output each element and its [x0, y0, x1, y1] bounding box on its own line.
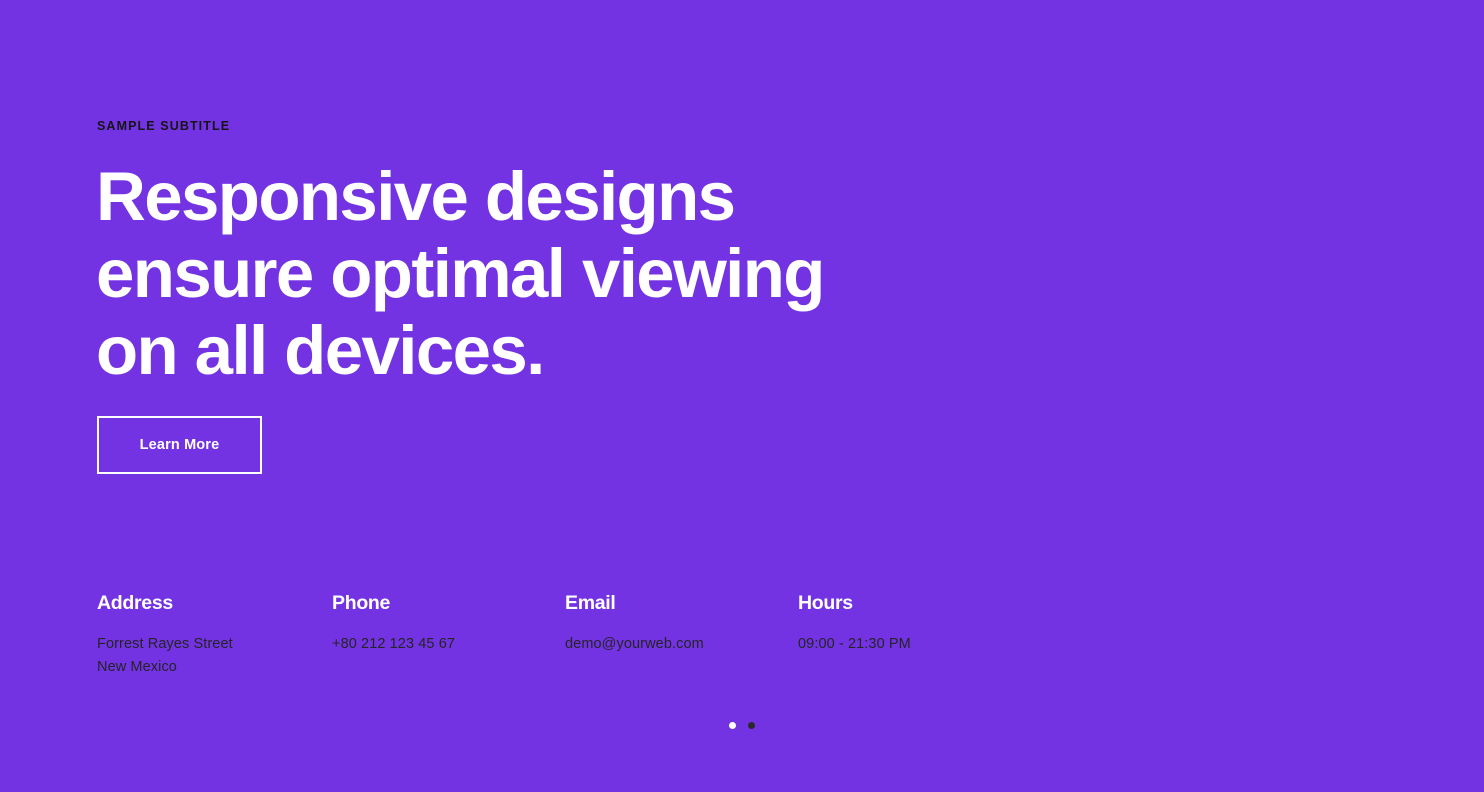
carousel-dots [0, 722, 1484, 729]
learn-more-button[interactable]: Learn More [97, 416, 262, 474]
contact-line: Forrest Rayes Street [97, 633, 327, 656]
contact-lines-email: demo@yourweb.com [565, 633, 795, 656]
contact-lines-hours: 09:00 - 21:30 PM [798, 633, 1028, 656]
contact-column-email: Email demo@yourweb.com [565, 591, 795, 656]
contact-title-email: Email [565, 591, 795, 615]
contact-line-phone-number[interactable]: +80 212 123 45 67 [332, 633, 562, 656]
contact-info-row: Address Forrest Rayes Street New Mexico … [97, 591, 1197, 681]
contact-lines-address: Forrest Rayes Street New Mexico [97, 633, 327, 679]
contact-column-address: Address Forrest Rayes Street New Mexico [97, 591, 327, 679]
contact-column-phone: Phone +80 212 123 45 67 [332, 591, 562, 656]
contact-lines-phone: +80 212 123 45 67 [332, 633, 562, 656]
hero-eyebrow: SAMPLE SUBTITLE [97, 118, 230, 134]
hero-slide: SAMPLE SUBTITLE Responsive designs ensur… [0, 0, 1484, 792]
headline-line-2: ensure optimal viewing [96, 235, 996, 312]
hero-headline: Responsive designs ensure optimal viewin… [96, 158, 996, 389]
contact-line: New Mexico [97, 656, 327, 679]
contact-line-email-address[interactable]: demo@yourweb.com [565, 633, 795, 656]
contact-line: 09:00 - 21:30 PM [798, 633, 1028, 656]
contact-column-hours: Hours 09:00 - 21:30 PM [798, 591, 1028, 656]
carousel-dot-1[interactable] [729, 722, 736, 729]
headline-line-3: on all devices. [96, 312, 996, 389]
headline-line-1: Responsive designs [96, 158, 996, 235]
carousel-dot-2[interactable] [748, 722, 755, 729]
contact-title-phone: Phone [332, 591, 562, 615]
contact-title-address: Address [97, 591, 327, 615]
contact-title-hours: Hours [798, 591, 1028, 615]
